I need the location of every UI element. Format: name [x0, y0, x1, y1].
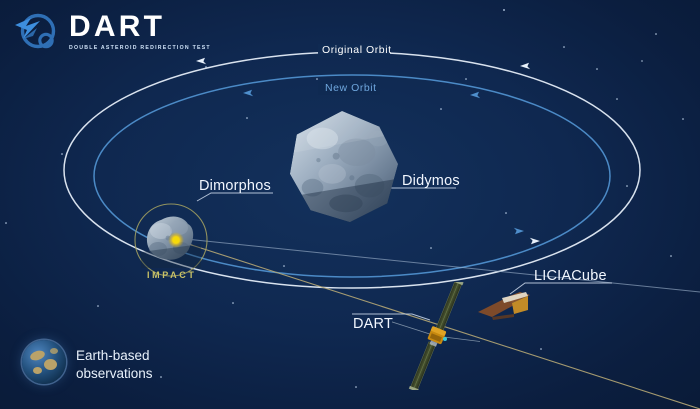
label-earth-based-observations: Earth-based observations — [76, 347, 153, 383]
label-dimorphos: Dimorphos — [199, 178, 271, 194]
logo-title: DART — [69, 12, 211, 42]
dart-logo: DART Double Asteroid Redirection Test — [14, 12, 211, 52]
label-didymos: Didymos — [402, 173, 460, 189]
asteroid-didymos — [285, 108, 403, 226]
spacecraft-dart — [392, 282, 480, 390]
dart-spacecraft-logo-icon — [14, 12, 60, 52]
impact-marker — [172, 236, 179, 243]
dart-mission-diagram: DART Double Asteroid Redirection Test Or… — [0, 0, 700, 409]
logo-subtitle: Double Asteroid Redirection Test — [69, 46, 211, 51]
orbit-label-original: Original Orbit — [322, 44, 392, 56]
earth-globe-icon — [22, 340, 66, 384]
spacecraft-liciacube — [476, 286, 538, 326]
label-impact: IMPACT — [147, 270, 196, 280]
label-liciacube: LICIACube — [534, 268, 607, 284]
label-dart: DART — [353, 316, 393, 332]
orbit-label-new: New Orbit — [325, 82, 377, 94]
